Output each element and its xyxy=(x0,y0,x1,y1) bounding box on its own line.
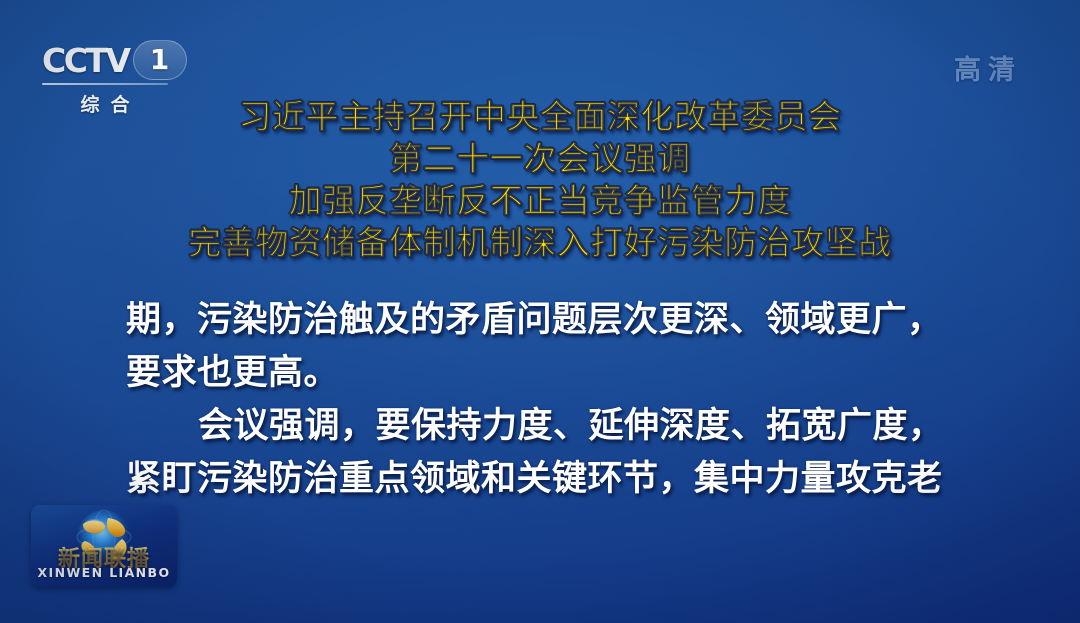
cctv-logo-row: CCTV 1 xyxy=(42,40,202,80)
hd-watermark: 高清 xyxy=(954,48,1022,87)
program-title-pinyin: XINWEN LIANBO xyxy=(31,565,177,580)
body-copy-block: 期，污染防治触及的矛盾问题层次更深、领域更广， 要求也更高。 会议强调，要保持力… xyxy=(126,294,966,506)
body-copy-line: 要求也更高。 xyxy=(126,347,966,400)
channel-number: 1 xyxy=(150,46,169,74)
headline-line: 第二十一次会议强调 xyxy=(0,138,1080,180)
cctv-divider-rule xyxy=(42,83,168,85)
headline-block: 习近平主持召开中央全面深化改革委员会 第二十一次会议强调 加强反垄断反不正当竞争… xyxy=(0,96,1080,264)
broadcast-frame: CCTV 1 综合 高清 习近平主持召开中央全面深化改革委员会 第二十一次会议强… xyxy=(0,0,1080,623)
channel-number-badge: 1 xyxy=(133,40,187,80)
headline-line: 习近平主持召开中央全面深化改革委员会 xyxy=(0,96,1080,138)
body-copy-line: 会议强调，要保持力度、延伸深度、拓宽广度， xyxy=(126,400,966,453)
body-copy-line: 期，污染防治触及的矛盾问题层次更深、领域更广， xyxy=(126,294,966,347)
body-copy-line: 紧盯污染防治重点领域和关键环节，集中力量攻克老 xyxy=(126,453,966,506)
headline-line: 加强反垄断反不正当竞争监管力度 xyxy=(0,180,1080,222)
xinwen-lianbo-logo: 新闻联播 XINWEN LIANBO xyxy=(31,505,177,587)
cctv-wordmark: CCTV xyxy=(42,44,129,77)
headline-line: 完善物资储备体制机制深入打好污染防治攻坚战 xyxy=(0,222,1080,264)
